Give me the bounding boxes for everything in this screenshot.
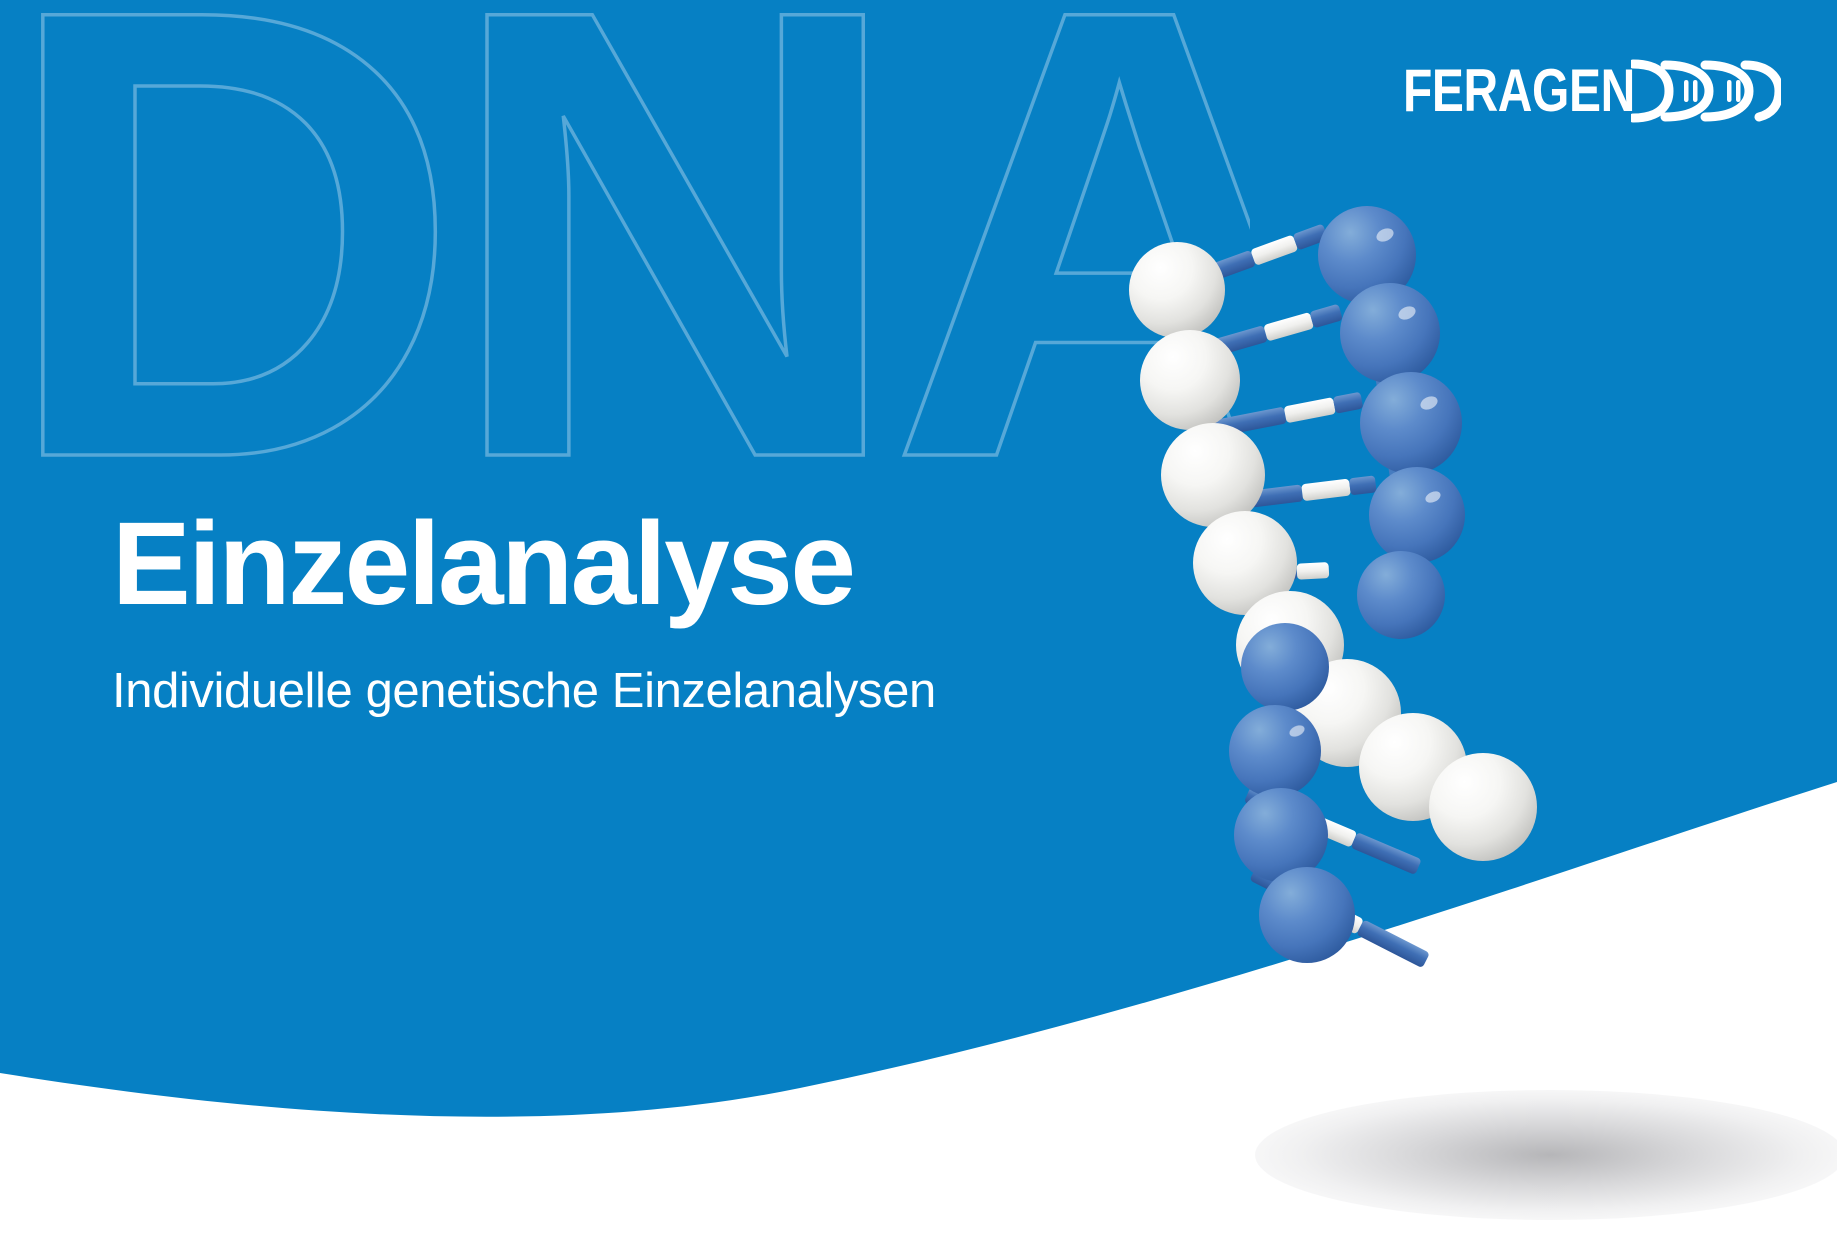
feragen-logo[interactable]: FERAGEN bbox=[1345, 52, 1781, 130]
dna-helix-icon bbox=[1631, 56, 1781, 126]
logo-wordmark: FERAGEN bbox=[1403, 52, 1635, 130]
dna-promo-banner: DNA FERAGEN bbox=[0, 0, 1837, 1252]
dna-molecule-illustration bbox=[1085, 175, 1605, 965]
page-subtitle: Individuelle genetische Einzelanalysen bbox=[112, 667, 1212, 716]
hero-copy: Einzelanalyse Individuelle genetische Ei… bbox=[112, 505, 1212, 716]
page-title: Einzelanalyse bbox=[112, 505, 1212, 623]
